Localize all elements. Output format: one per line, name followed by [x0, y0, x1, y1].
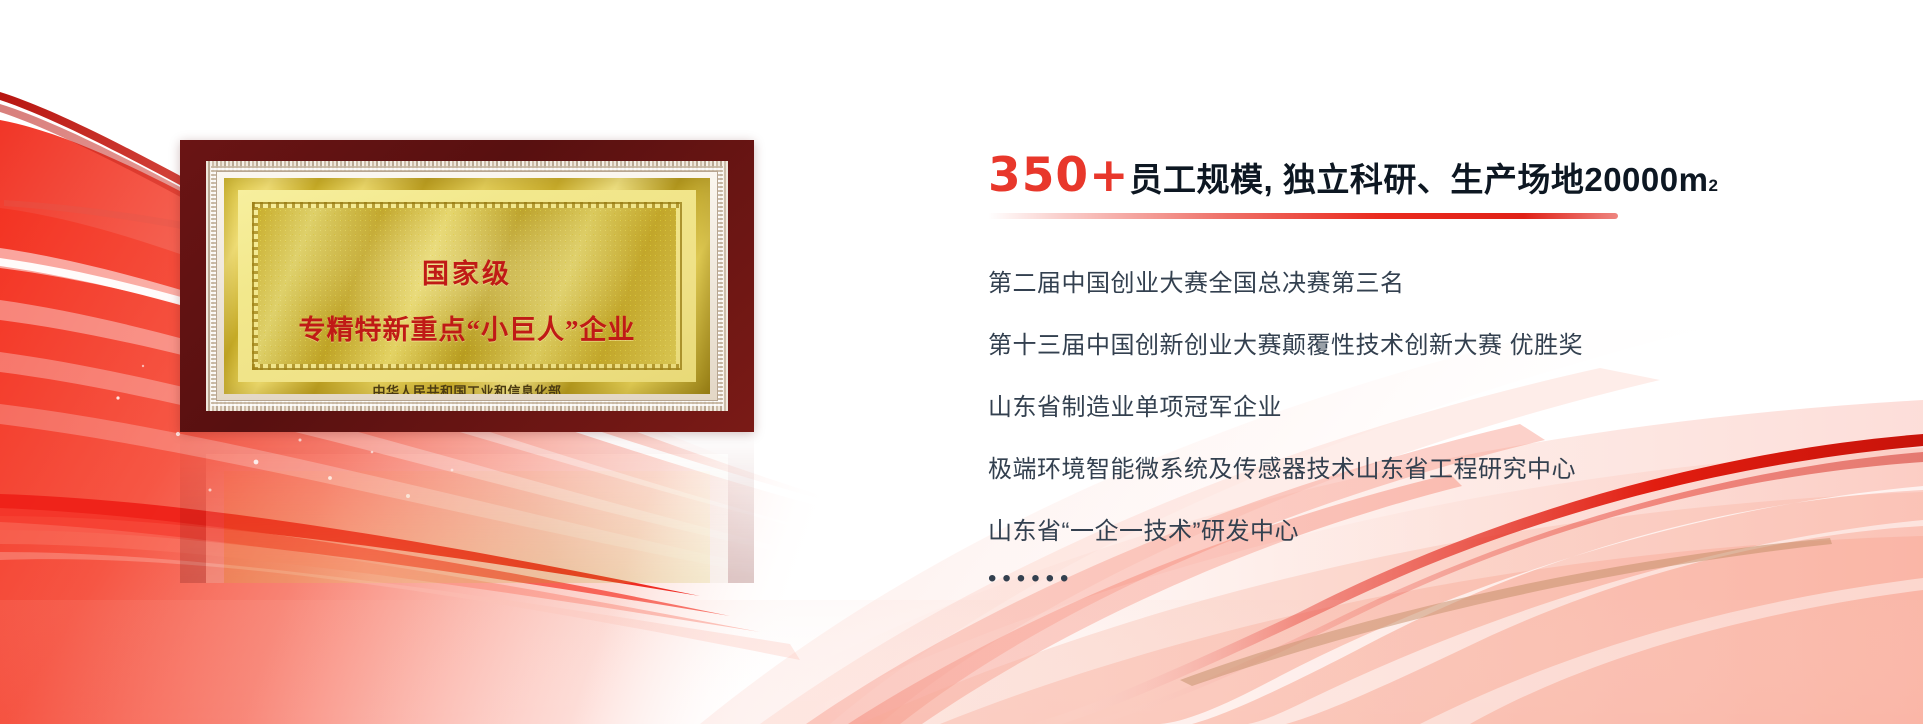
- content-column: 350+ 员工规模, 独立科研、生产场地20000m 2 第二届中国创业大赛全国…: [988, 152, 1858, 593]
- banner-root: 国家级 专精特新重点“小巨人”企业 中华人民共和国工业和信息化部 2024年12…: [0, 0, 1923, 724]
- list-item: 山东省制造业单项冠军企业: [988, 387, 1858, 422]
- headline-underline-bar: [988, 213, 1618, 219]
- plaque-engraved-field: 国家级 专精特新重点“小巨人”企业 中华人民共和国工业和信息化部 2024年12…: [258, 208, 676, 364]
- list-item: 第二届中国创业大赛全国总决赛第三名: [988, 263, 1858, 298]
- plaque-gold-plate: 国家级 专精特新重点“小巨人”企业 中华人民共和国工业和信息化部 2024年12…: [224, 178, 710, 394]
- list-item: 第十三届中国创新创业大赛颠覆性技术创新大赛 优胜奖: [988, 325, 1858, 360]
- headline-superscript: 2: [1708, 177, 1717, 194]
- award-plaque: 国家级 专精特新重点“小巨人”企业 中华人民共和国工业和信息化部 2024年12…: [180, 140, 754, 432]
- list-item: 山东省“一企一技术”研发中心: [988, 511, 1858, 546]
- plaque-title-primary: 国家级: [258, 252, 676, 291]
- plaque-frame: 国家级 专精特新重点“小巨人”企业 中华人民共和国工业和信息化部 2024年12…: [180, 140, 754, 432]
- achievement-list: 第二届中国创业大赛全国总决赛第三名 第十三届中国创新创业大赛颠覆性技术创新大赛 …: [988, 263, 1858, 593]
- list-ellipsis: ••••••: [988, 565, 1858, 593]
- headline: 350+ 员工规模, 独立科研、生产场地20000m 2: [988, 152, 1858, 199]
- headline-description: 员工规模, 独立科研、生产场地20000m: [1130, 163, 1709, 196]
- plaque-reflection: [180, 433, 754, 583]
- plaque-text-block: 国家级 专精特新重点“小巨人”企业 中华人民共和国工业和信息化部 2024年12…: [258, 208, 676, 394]
- plaque-issuer: 中华人民共和国工业和信息化部: [258, 381, 676, 394]
- headline-metric: 350+: [988, 152, 1130, 199]
- list-item: 极端环境智能微系统及传感器技术山东省工程研究中心: [988, 449, 1858, 484]
- plaque-title-secondary: 专精特新重点“小巨人”企业: [258, 308, 676, 347]
